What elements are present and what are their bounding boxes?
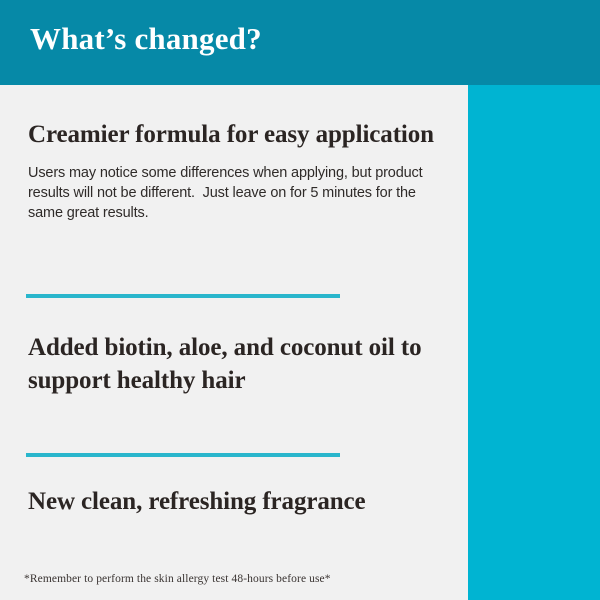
section-heading-1: Creamier formula for easy application xyxy=(0,118,468,151)
section-heading-2: Added biotin, aloe, and coconut oil to s… xyxy=(0,331,468,397)
section-block-2: Added biotin, aloe, and coconut oil to s… xyxy=(0,331,468,397)
header-band: What’s changed? xyxy=(0,0,600,85)
footnote-disclaimer: *Remember to perform the skin allergy te… xyxy=(24,572,454,586)
section-body-1: Users may notice some differences when a… xyxy=(0,151,468,223)
infographic-card: What’s changed? Creamier formula for eas… xyxy=(0,0,600,600)
page-title: What’s changed? xyxy=(30,21,262,57)
section-block-3: New clean, refreshing fragrance xyxy=(0,485,468,518)
section-heading-3: New clean, refreshing fragrance xyxy=(0,485,468,518)
content-area: Creamier formula for easy application Us… xyxy=(0,85,468,600)
section-block-1: Creamier formula for easy application Us… xyxy=(0,118,468,223)
section-divider-2 xyxy=(26,453,340,457)
section-divider-1 xyxy=(26,294,340,298)
accent-column xyxy=(468,85,600,600)
